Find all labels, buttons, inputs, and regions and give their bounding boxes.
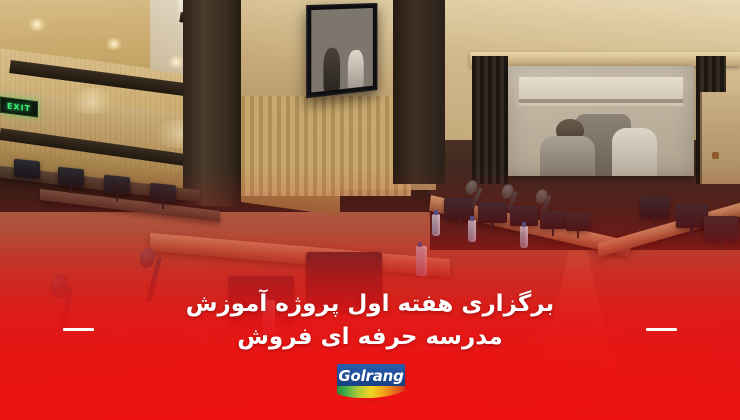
curtain-left [472, 56, 508, 184]
foreground-monitor [228, 276, 294, 326]
screen-second-person [612, 128, 657, 176]
water-bottle [520, 226, 528, 248]
structural-pillar-right [393, 0, 445, 184]
divider-dash-right [646, 328, 677, 331]
water-bottle [416, 246, 427, 276]
desk-monitor-right [704, 216, 738, 242]
back-monitor [58, 167, 84, 188]
foreground-monitor [306, 252, 382, 308]
back-monitor [14, 159, 40, 180]
attendee-torso [716, 318, 740, 420]
ceiling-spotlight [104, 38, 124, 50]
water-bottle [262, 300, 275, 334]
conference-hall-photo: EXIT [0, 0, 740, 420]
golrang-wordmark: Golrang [338, 367, 403, 385]
desk-monitor [478, 202, 507, 223]
side-door [700, 92, 740, 184]
back-monitor [104, 175, 130, 196]
golrang-logo: Golrang شرکت گلرنگ پخش [337, 364, 405, 408]
projection-screen [508, 66, 694, 176]
screen-speaker-body [540, 136, 596, 176]
wall-wash-light [66, 88, 118, 114]
screen-horizon-line [519, 99, 683, 103]
desk-monitor-right [640, 196, 670, 218]
golrang-logo-swoosh [337, 386, 405, 398]
golrang-logo-tagline: شرکت گلرنگ پخش [337, 399, 405, 405]
water-bottle [468, 220, 476, 242]
wall-mounted-tv [306, 3, 377, 98]
tv-person-right [348, 49, 364, 88]
ceiling-spotlight [26, 18, 48, 31]
exit-sign-label: EXIT [7, 101, 31, 113]
door-knob [712, 152, 719, 159]
tv-person-left [323, 48, 341, 92]
tv-screen-content [311, 8, 373, 93]
upper-right-wall-slats [236, 96, 411, 196]
desk-monitor [566, 213, 590, 231]
back-monitor [150, 183, 176, 204]
screenshot-root: EXIT [0, 0, 740, 420]
structural-pillar-left [183, 0, 241, 207]
golrang-logo-box: Golrang [337, 364, 405, 387]
divider-dash-left [63, 328, 94, 331]
water-bottle [432, 214, 440, 236]
